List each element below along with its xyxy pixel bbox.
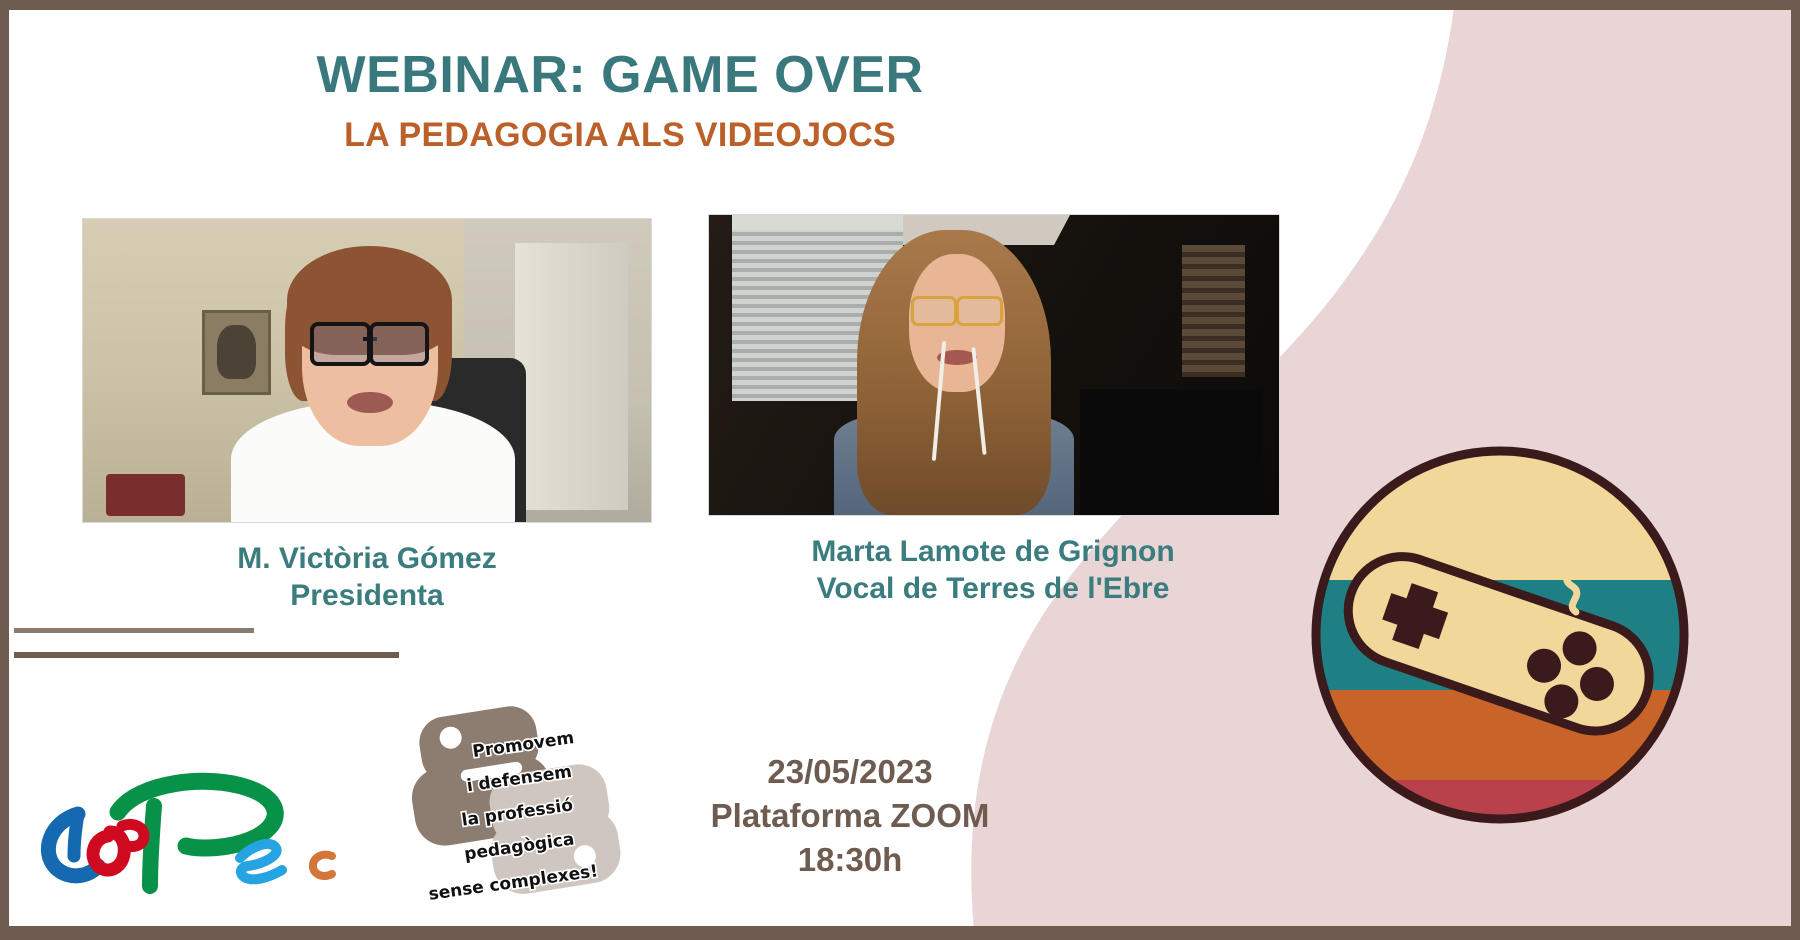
event-date: 23/05/2023 (640, 750, 1060, 794)
divider-rule-upper (14, 628, 254, 633)
poster-title-block: WEBINAR: GAME OVER LA PEDAGOGIA ALS VIDE… (0, 48, 1240, 154)
event-details: 23/05/2023 Plataforma ZOOM 18:30h (640, 750, 1060, 883)
page-title: WEBINAR: GAME OVER (0, 48, 1240, 103)
game-controller-badge (1310, 440, 1710, 880)
speaker-two-role: Vocal de Terres de l'Ebre (708, 571, 1278, 608)
webcam-frame-two (709, 215, 1279, 515)
webinar-poster: WEBINAR: GAME OVER LA PEDAGOGIA ALS VIDE… (0, 0, 1800, 940)
speaker-two-photo (708, 214, 1280, 516)
divider-rule-lower (14, 652, 399, 658)
copec-logo (26, 740, 386, 900)
webcam-frame-one (83, 219, 651, 522)
speaker-card-one: M. Victòria Gómez Presidenta (82, 218, 652, 614)
speaker-one-photo (82, 218, 652, 523)
event-time: 18:30h (640, 838, 1060, 882)
frame-bar-left (0, 10, 9, 926)
speaker-card-two: Marta Lamote de Grignon Vocal de Terres … (708, 214, 1278, 607)
speaker-one-role: Presidenta (82, 578, 652, 615)
speaker-one-name: M. Victòria Gómez (82, 541, 652, 578)
frame-bar-right (1791, 10, 1800, 926)
page-subtitle: LA PEDAGOGIA ALS VIDEOJOCS (0, 117, 1240, 154)
frame-bar-top (0, 0, 1800, 10)
speaker-two-name: Marta Lamote de Grignon (708, 534, 1278, 571)
slogan-stamp: Promovem i defensem la professió pedagòg… (408, 700, 628, 910)
frame-bar-bottom (0, 926, 1800, 940)
event-platform: Plataforma ZOOM (640, 794, 1060, 838)
